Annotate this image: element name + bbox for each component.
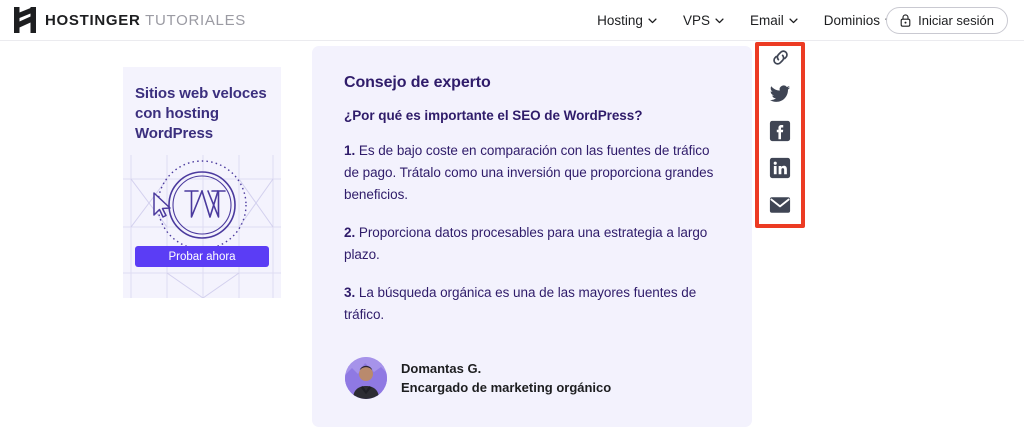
chevron-down-icon [789,18,798,24]
nav-item-hosting[interactable]: Hosting [597,13,657,28]
email-icon [769,196,791,214]
author-block: Domantas G. Encargado de marketing orgán… [345,357,611,399]
expert-tip-item-text: Es de bajo coste en comparación con las … [344,143,713,202]
nav-item-label: VPS [683,13,710,28]
main-navigation: Hosting VPS Email Dominios [597,0,894,41]
share-rail [762,44,798,224]
lock-icon [900,14,911,27]
share-twitter-button[interactable] [767,81,793,107]
avatar [345,357,387,399]
promo-card[interactable]: Sitios web veloces con hosting WordPress… [123,67,281,298]
nav-item-dominios[interactable]: Dominios [824,13,894,28]
expert-tip-title: Consejo de experto [344,74,720,92]
page-root: primeros resultados de búsqueda obtienen… [0,0,1024,446]
twitter-icon [769,83,791,105]
expert-tip-item-number: 2. [344,225,355,240]
expert-tip-item: 2. Proporciona datos procesables para un… [344,222,720,266]
facebook-icon [769,120,791,142]
share-linkedin-button[interactable] [767,155,793,181]
author-role: Encargado de marketing orgánico [401,378,611,397]
nav-item-email[interactable]: Email [750,13,798,28]
promo-card-title: Sitios web veloces con hosting WordPress [135,84,275,144]
link-icon [770,47,791,68]
share-facebook-button[interactable] [767,118,793,144]
share-email-button[interactable] [767,192,793,218]
nav-item-label: Hosting [597,13,643,28]
expert-tip-question: ¿Por qué es importante el SEO de WordPre… [344,108,720,123]
author-avatar [345,357,387,399]
expert-tip-item-text: La búsqueda orgánica es una de las mayor… [344,285,696,322]
nav-item-label: Email [750,13,784,28]
login-button[interactable]: Iniciar sesión [886,7,1008,34]
author-info: Domantas G. Encargado de marketing orgán… [401,359,611,397]
author-name: Domantas G. [401,359,611,378]
expert-tip-item-text: Proporciona datos procesables para una e… [344,225,707,262]
hostinger-h-logo-icon [14,7,36,33]
expert-tip-item-number: 1. [344,143,355,158]
expert-tip-item: 1. Es de bajo coste en comparación con l… [344,140,720,206]
site-header: HOSTINGER TUTORIALES Hosting VPS Email D… [0,0,1024,41]
login-button-label: Iniciar sesión [918,13,994,28]
brand-logo[interactable]: HOSTINGER TUTORIALES [14,7,246,33]
share-link-button[interactable] [767,44,793,70]
nav-item-label: Dominios [824,13,880,28]
brand-wordmark: HOSTINGER TUTORIALES [45,13,246,28]
mouse-cursor-icon [154,193,170,217]
chevron-down-icon [648,18,657,24]
nav-item-vps[interactable]: VPS [683,13,724,28]
promo-cta-button[interactable]: Probar ahora [135,246,269,267]
brand-subname: TUTORIALES [145,12,246,29]
expert-tip-item: 3. La búsqueda orgánica es una de las ma… [344,282,720,326]
expert-tip-item-number: 3. [344,285,355,300]
brand-name: HOSTINGER [45,12,140,29]
chevron-down-icon [715,18,724,24]
linkedin-icon [769,157,791,179]
